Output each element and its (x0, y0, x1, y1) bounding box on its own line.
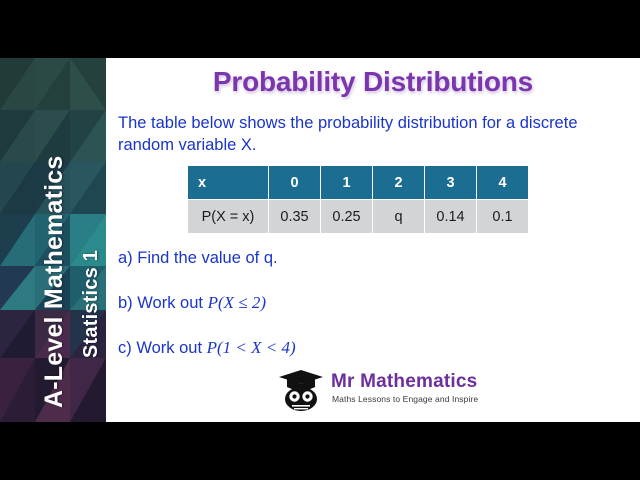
screenshot-stage: A-Level Mathematics Statistics 1 Probabi… (0, 0, 640, 480)
question-a-text: a) Find the value of q. (118, 249, 278, 267)
brand-logo: Mr Mathematics Maths Lessons to Engage a… (276, 368, 486, 414)
question-b: b) Work out P(X ≤ 2) (118, 293, 266, 313)
header-cell-4: 4 (477, 166, 528, 199)
letterbox-bottom (0, 422, 640, 480)
question-c-expression: P(1 < X < 4) (207, 338, 296, 357)
intro-paragraph: The table below shows the probability di… (118, 112, 598, 156)
cell-p4: 0.1 (477, 200, 528, 233)
sidebar-course-label: A-Level Mathematics (40, 156, 69, 409)
cell-probability-label: P(X = x) (188, 200, 268, 233)
question-b-text: b) Work out (118, 294, 208, 312)
cell-p3: 0.14 (425, 200, 476, 233)
cell-p0: 0.35 (269, 200, 320, 233)
slide-canvas: A-Level Mathematics Statistics 1 Probabi… (0, 58, 640, 422)
owl-graduate-icon (276, 368, 326, 412)
logo-tagline: Maths Lessons to Engage and Inspire (332, 394, 478, 404)
cell-p2: q (373, 200, 424, 233)
page-title: Probability Distributions (106, 66, 640, 98)
header-cell-1: 1 (321, 166, 372, 199)
logo-brand-name: Mr Mathematics (331, 371, 477, 393)
question-c-text: c) Work out (118, 339, 207, 357)
header-cell-x: x (188, 166, 268, 199)
probability-distribution-table: x 0 1 2 3 4 P(X = x) 0.35 0.25 q 0.14 (187, 165, 529, 234)
slide-sidebar: A-Level Mathematics Statistics 1 (0, 58, 106, 422)
question-b-expression: P(X ≤ 2) (208, 293, 266, 312)
header-cell-0: 0 (269, 166, 320, 199)
question-a: a) Find the value of q. (118, 249, 278, 268)
cell-p1: 0.25 (321, 200, 372, 233)
question-c: c) Work out P(1 < X < 4) (118, 338, 296, 358)
header-cell-2: 2 (373, 166, 424, 199)
table-row: P(X = x) 0.35 0.25 q 0.14 0.1 (188, 200, 528, 233)
slide-content: Probability Distributions The table belo… (106, 58, 640, 422)
letterbox-top (0, 0, 640, 58)
table-header-row: x 0 1 2 3 4 (188, 166, 528, 199)
header-cell-3: 3 (425, 166, 476, 199)
sidebar-module-label: Statistics 1 (80, 250, 103, 358)
